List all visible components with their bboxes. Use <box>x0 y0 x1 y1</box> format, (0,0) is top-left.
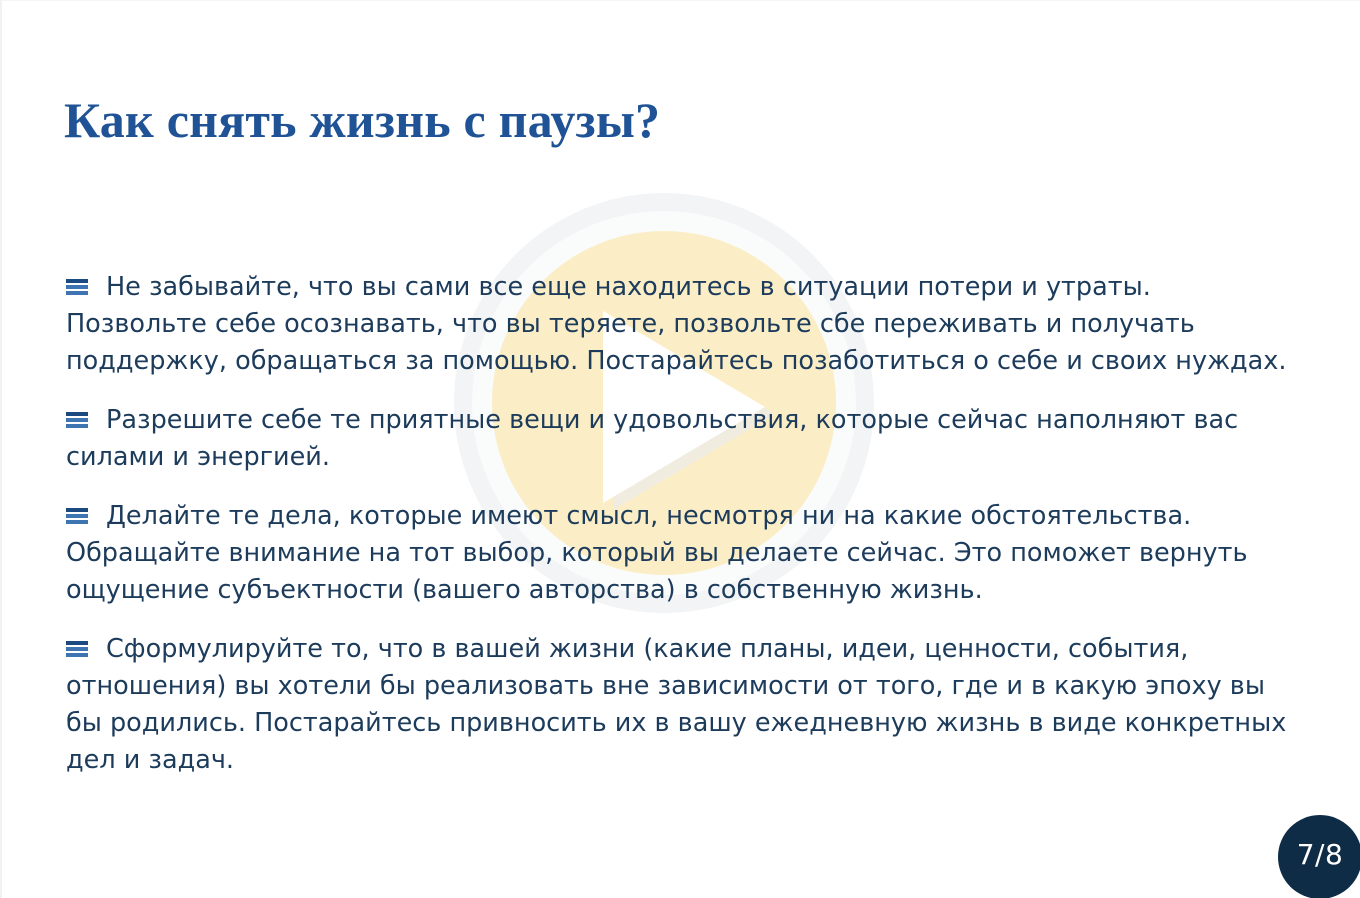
bullet-item-text: Сформулируйте то, что в вашей жизни (как… <box>66 634 1286 775</box>
bullet-item-text: Не забывайте, что вы сами все еще находи… <box>66 272 1287 376</box>
slide-title: Как снять жизнь с паузы? <box>64 93 660 148</box>
bullet-item: Делайте те дела, которые имеют смысл, не… <box>66 498 1298 609</box>
triple-bar-bullet-icon <box>66 631 106 668</box>
slide-canvas: Как снять жизнь с паузы? Не забывайте, ч… <box>0 0 1360 898</box>
bullet-item: Разрешите себе те приятные вещи и удовол… <box>66 402 1298 476</box>
triple-bar-bullet-icon <box>66 269 106 306</box>
bullet-item: Сформулируйте то, что в вашей жизни (как… <box>66 631 1298 779</box>
page-number-badge: 7/8 <box>1278 815 1360 898</box>
slide-body: Не забывайте, что вы сами все еще находи… <box>66 269 1298 779</box>
bullet-item: Не забывайте, что вы сами все еще находи… <box>66 269 1298 380</box>
page-number-label: 7/8 <box>1297 841 1344 873</box>
bullet-item-text: Делайте те дела, которые имеют смысл, не… <box>66 501 1248 605</box>
bullet-item-text: Разрешите себе те приятные вещи и удовол… <box>66 405 1238 472</box>
triple-bar-bullet-icon <box>66 498 106 535</box>
triple-bar-bullet-icon <box>66 402 106 439</box>
